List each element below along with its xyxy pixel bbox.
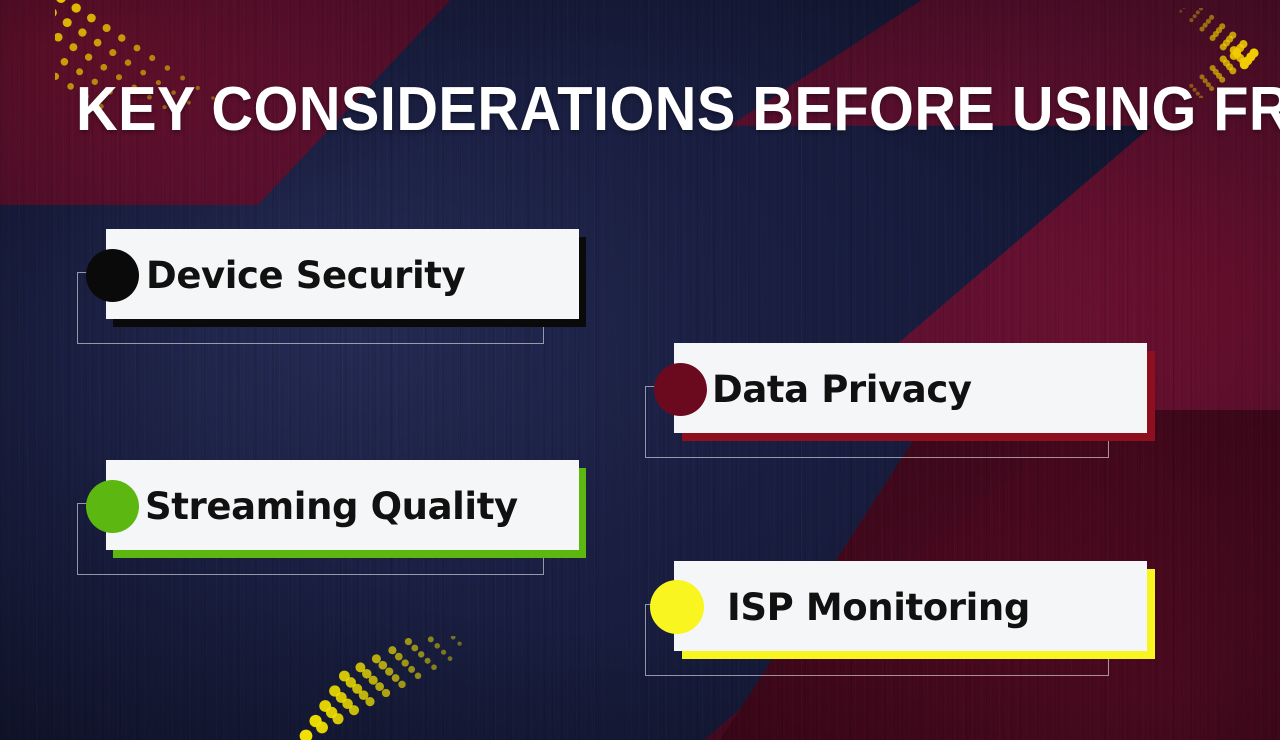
page-title: KEY CONSIDERATIONS BEFORE USING FREE IPT… [76, 79, 1280, 141]
card-label: ISP Monitoring [727, 586, 1030, 629]
card-bullet-dot [650, 580, 704, 634]
card-label: Data Privacy [712, 368, 972, 411]
card-bullet-dot [86, 249, 139, 302]
infographic-canvas: KEY CONSIDERATIONS BEFORE USING FREE IPT… [0, 0, 1280, 740]
card-bullet-dot [86, 480, 139, 533]
card-label: Device Security [146, 254, 465, 297]
card-bullet-dot [654, 363, 707, 416]
card-label: Streaming Quality [145, 485, 518, 528]
